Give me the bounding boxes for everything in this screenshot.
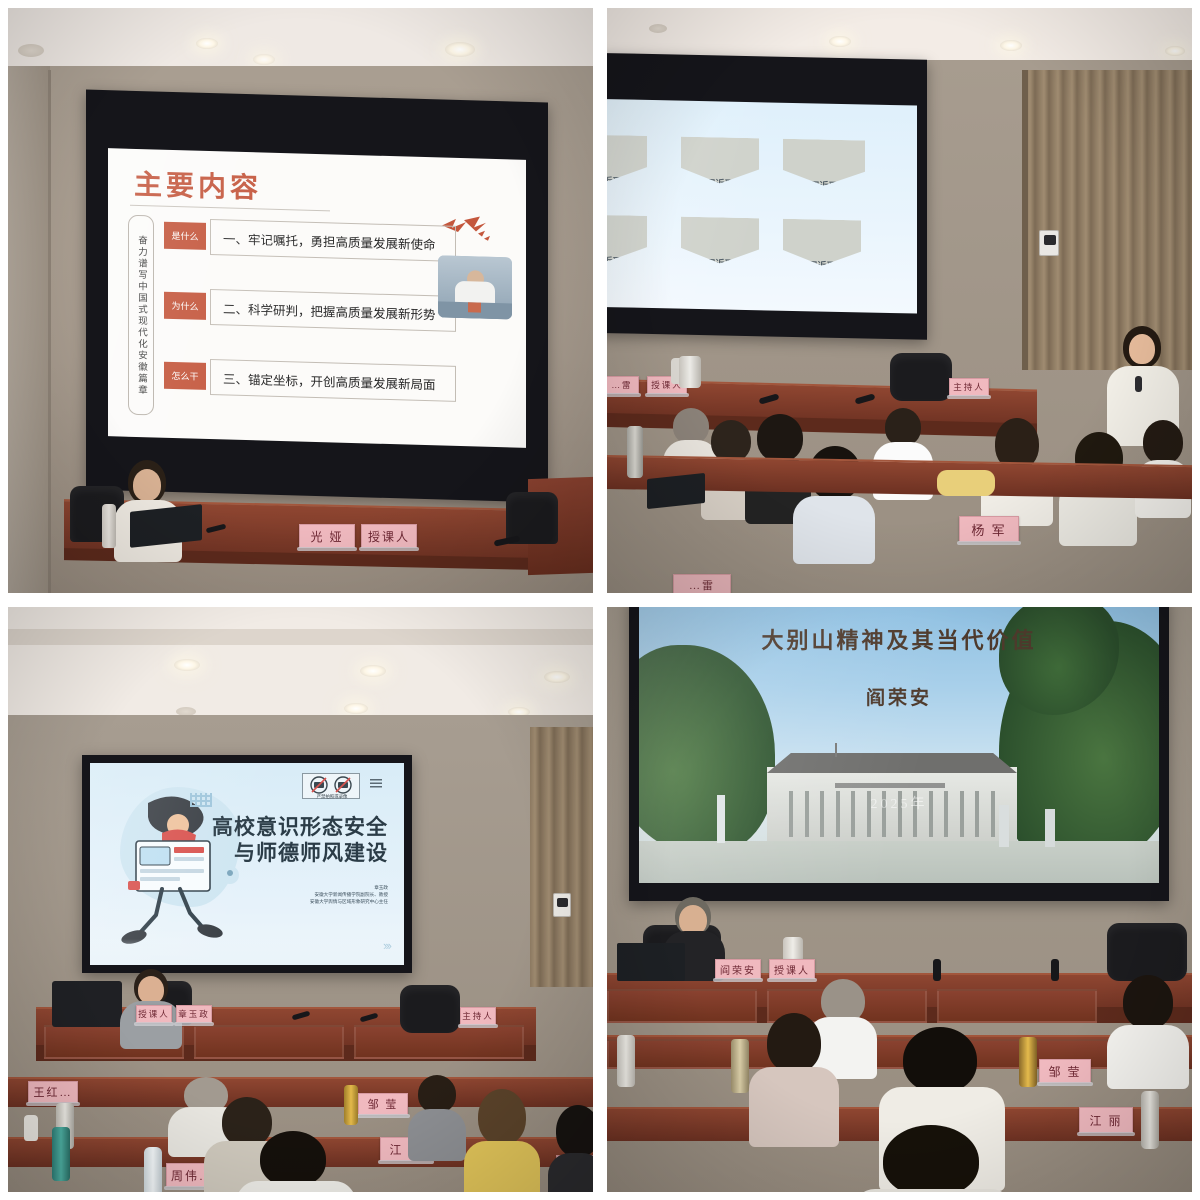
nameplate: 章玉政 [176,1005,212,1023]
slide-title: 高校意识形态安全 与师德师风建设 [198,815,388,866]
monument-pillar [1045,809,1055,847]
nameplate: …雷 [607,376,639,394]
nameplate: …雷 [673,574,731,593]
museum-signage [835,783,945,788]
yellow-bag [937,470,995,496]
nameplate: 授课人 [361,524,417,548]
nameplate: 授课人 [136,1005,172,1023]
green-bottle [52,1127,70,1181]
runner-illustration [118,789,248,949]
lecture-room-photo-3: 严禁拍照或录像 高校意识形态安全 与师德师风建设 章玉政 安徽大学新闻传播学院副… [8,607,593,1192]
no-photography-sign: 严禁拍照或录像 [302,773,360,799]
face [1129,334,1155,364]
drink-bottle [344,1085,358,1125]
banner-line-1: 习近平 [706,258,733,270]
thermos-bottle [102,504,116,548]
slide-video-thumbnail [438,255,512,319]
camera-icon [1039,230,1059,256]
flagpole [835,743,837,757]
laptop [647,473,705,509]
nameplate: 阎荣安 [715,959,761,979]
banner-line-1: 习近平 [810,180,837,192]
chair [890,353,952,401]
laptop [130,504,202,548]
desk-panel [607,989,757,1023]
slide-year-watermark: 2025年 [639,793,1159,813]
projection-screen-frame: 习近平 强军思想 习近平 经济思想 习近平 生态文明思想 习近平 外交思想 [607,52,927,340]
banner-line-1: 习近平 [607,256,622,268]
nameplate: 杨 军 [959,516,1019,542]
panel-top-left: 主要内容 奋力谱写中国式现代化安徽篇章 是什么 一、牢记嘱托，勇担高质量发展新使… [0,0,596,596]
downlight-icon [174,659,200,671]
chair [400,985,460,1033]
audience-person [548,1105,593,1192]
nameplate: 王红… [28,1081,78,1103]
audience-person [236,1131,356,1192]
slide-banner: 习近平 生态文明思想 [783,139,865,187]
slide-title: 大别山精神及其当代价值 [639,623,1159,655]
downlight-icon [544,671,570,683]
slide-banner: 习近平 外交思想 [607,214,647,262]
nameplate: 授课人 [769,959,815,979]
slide-title-line-1: 高校意识形态安全 [198,815,388,841]
banner-line-2: 文化思想 [804,271,840,283]
desk-panel [194,1025,344,1059]
water-bottle [144,1147,162,1192]
downlight-icon [445,42,475,57]
projection-screen-frame: 主要内容 奋力谱写中国式现代化安徽篇章 是什么 一、牢记嘱托，勇担高质量发展新使… [86,90,548,503]
chair [1107,923,1187,981]
wood-slat-wall [530,727,593,987]
audience-person [749,1013,839,1143]
downlight-icon [360,665,386,677]
panel-top-right: 习近平 强军思想 习近平 经济思想 习近平 生态文明思想 习近平 外交思想 [596,0,1200,596]
subtitle-line-2: 安徽大学新闻传播学院副院长、教授 [198,892,388,899]
audience-person [408,1075,466,1153]
projection-screen-frame: 严禁拍照或录像 高校意识形态安全 与师德师风建设 章玉政 安徽大学新闻传播学院副… [82,755,412,973]
audience-person [853,1125,1013,1192]
nameplate: 主持人 [949,378,989,396]
banner-line-2: 经济思想 [702,189,738,201]
handheld-microphone [1135,376,1142,392]
lecture-room-photo-2: 习近平 强军思想 习近平 经济思想 习近平 生态文明思想 习近平 外交思想 [607,8,1192,593]
audience-person [1107,975,1189,1083]
slide-presenter: 阎荣安 [639,683,1159,710]
banner-line-1: 习近平 [607,176,622,188]
slide-badge: 怎么干 [164,362,206,390]
title-underline [130,205,330,212]
banner-line-2: 生态文明思想 [797,191,851,203]
subtitle-line-1: 章玉政 [198,885,388,892]
slide-banner: 习近平 强军思想 [607,134,647,182]
slide-banner: 习近平 文化思想 [783,219,861,267]
slide-side-label: 奋力谱写中国式现代化安徽篇章 [128,215,154,416]
slide-row: 二、科学研判，把握高质量发展新形势 [210,289,456,332]
slide-row: 一、牢记嘱托，勇担高质量发展新使命 [210,219,456,262]
tree-foliage-left [639,645,775,855]
wall-seam [48,70,51,593]
face [133,469,161,501]
banner-line-1: 习近平 [808,260,835,272]
microphone [933,959,941,981]
slide-bottom-left: 严禁拍照或录像 高校意识形态安全 与师德师风建设 章玉政 安徽大学新闻传播学院副… [90,763,404,965]
banner-line-2: 法治思想 [702,269,738,281]
nameplate: 江 丽 [1079,1107,1133,1133]
photo-collage: 主要内容 奋力谱写中国式现代化安徽篇章 是什么 一、牢记嘱托，勇担高质量发展新使… [0,0,1200,1200]
wall-pillar [8,66,50,593]
slide-badge: 是什么 [164,222,206,250]
slide-ground [90,939,404,965]
museum-roof [759,753,1025,773]
panel-bottom-right: 大别山精神及其当代价值 阎荣安 2025年 [596,596,1200,1200]
tea-bottle [731,1039,749,1093]
downlight-icon [829,36,851,47]
downlight-icon [1165,46,1185,56]
subtitle-line-3: 安徽大学舆情与区域形象研究中心主任 [198,899,388,906]
plaza-ground [639,841,1159,883]
slide-banner: 习近平 法治思想 [681,217,759,265]
slide-bottom-right: 大别山精神及其当代价值 阎荣安 2025年 [639,607,1159,883]
nameplate: 光 娅 [299,524,355,548]
downlight-icon [253,54,275,65]
wood-wall-edge [1022,70,1028,370]
drink-bottle [1019,1037,1037,1087]
downlight-icon [344,703,368,714]
desk-panel [937,989,1097,1023]
nameplate: 邹 莹 [358,1093,408,1115]
menu-icon [370,779,382,788]
projection-screen-frame: 大别山精神及其当代价值 阎荣安 2025年 [629,607,1169,901]
slide-title-line-2: 与师德师风建设 [198,841,388,867]
thermos-bottle [1141,1091,1159,1149]
monitor [52,981,122,1027]
slide-banner: 习近平 经济思想 [681,137,759,185]
wood-slat-wall [1025,70,1192,370]
face [138,976,164,1004]
nameplate: 主持人 [460,1007,496,1025]
dot-grid-decor [190,793,212,807]
slide-top-right: 习近平 强军思想 习近平 经济思想 习近平 生态文明思想 习近平 外交思想 [607,98,917,313]
thermos-bottle [679,356,701,388]
downlight-icon [18,44,44,57]
thermos-bottle [627,426,643,478]
slide-top-left: 主要内容 奋力谱写中国式现代化安徽篇章 是什么 一、牢记嘱托，勇担高质量发展新使… [108,148,526,448]
slide-title: 主要内容 [134,163,262,207]
panel-bottom-left: 严禁拍照或录像 高校意识形态安全 与师德师风建设 章玉政 安徽大学新闻传播学院副… [0,596,596,1200]
thermos-bottle [617,1035,635,1087]
slide-badge: 为什么 [164,292,206,320]
downlight-icon [1000,40,1022,51]
slide-row: 三、锚定坐标，开创高质量发展新局面 [210,359,456,402]
banner-line-2: 外交思想 [607,267,626,279]
lecture-room-photo-4: 大别山精神及其当代价值 阎荣安 2025年 [607,607,1192,1192]
lecture-room-photo-1: 主要内容 奋力谱写中国式现代化安徽篇章 是什么 一、牢记嘱托，勇担高质量发展新使… [8,8,593,593]
downlight-icon [196,38,218,49]
ceiling [8,607,593,723]
slide-subtitle: 章玉政 安徽大学新闻传播学院副院长、教授 安徽大学舆情与区域形象研究中心主任 [198,885,388,906]
svg-text:严禁拍照或录像: 严禁拍照或录像 [317,793,348,800]
laptop [617,943,685,981]
banner-line-2: 强军思想 [607,187,626,199]
camera-icon [553,893,571,917]
ceiling-soffit [8,629,593,645]
microphone [1051,959,1059,981]
paper-cup [24,1115,38,1141]
downlight-icon [649,24,667,33]
audience-person [464,1089,540,1192]
banner-line-1: 习近平 [706,178,733,190]
nameplate: 邹 莹 [1039,1059,1091,1083]
